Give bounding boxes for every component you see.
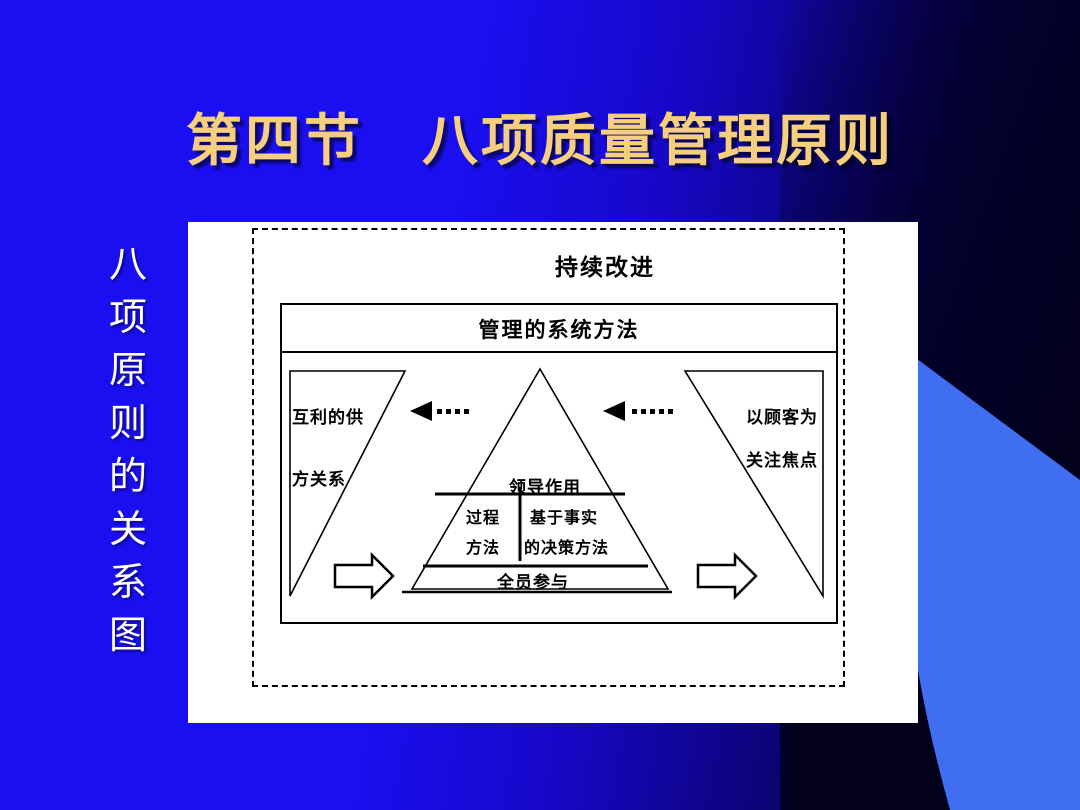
vertical-caption-char-3: 原: [98, 344, 158, 397]
vertical-caption-char-4: 则: [98, 397, 158, 450]
label-customer-focus-line1: 以顾客为: [746, 403, 818, 428]
label-supplier-relations-line2: 方关系: [292, 465, 346, 490]
label-factual-decision-line1: 基于事实: [530, 504, 598, 528]
label-process-approach-line2: 方法: [466, 534, 500, 558]
dotted-arrow-left-1: [410, 401, 469, 421]
principles-diagram: 互利的供 方关系 以顾客为 关注焦点 领导作用 过程 方法 基于事实 的决策方法…: [280, 353, 838, 624]
label-customer-focus-line2: 关注焦点: [746, 446, 818, 471]
label-supplier-relations-line1: 互利的供: [292, 403, 364, 428]
vertical-caption-char-7: 系: [98, 556, 158, 609]
label-process-approach-line1: 过程: [466, 504, 500, 528]
label-involvement-of-people: 全员参与: [497, 568, 569, 593]
label-continuous-improvement: 持续改进: [280, 248, 930, 282]
diagram-canvas: 持续改进 管理的系统方法: [188, 222, 918, 723]
presentation-slide: 第四节 八项质量管理原则 八 项 原 则 的 关 系 图 持续改进 管理的系统方…: [0, 0, 1080, 810]
page-title: 第四节 八项质量管理原则: [0, 96, 1080, 177]
block-arrow-right-left-side: [335, 555, 393, 597]
block-arrow-right-right-side: [698, 555, 756, 597]
vertical-caption-char-2: 项: [98, 291, 158, 344]
vertical-caption-char-6: 关: [98, 503, 158, 556]
label-system-approach: 管理的系统方法: [280, 314, 838, 344]
vertical-caption-char-1: 八: [98, 238, 158, 291]
vertical-caption-char-5: 的: [98, 450, 158, 503]
dotted-arrow-left-2: [603, 401, 673, 421]
vertical-caption: 八 项 原 则 的 关 系 图: [98, 238, 158, 662]
label-leadership: 领导作用: [509, 473, 581, 498]
label-factual-decision-line2: 的决策方法: [524, 534, 609, 558]
vertical-caption-char-8: 图: [98, 609, 158, 662]
